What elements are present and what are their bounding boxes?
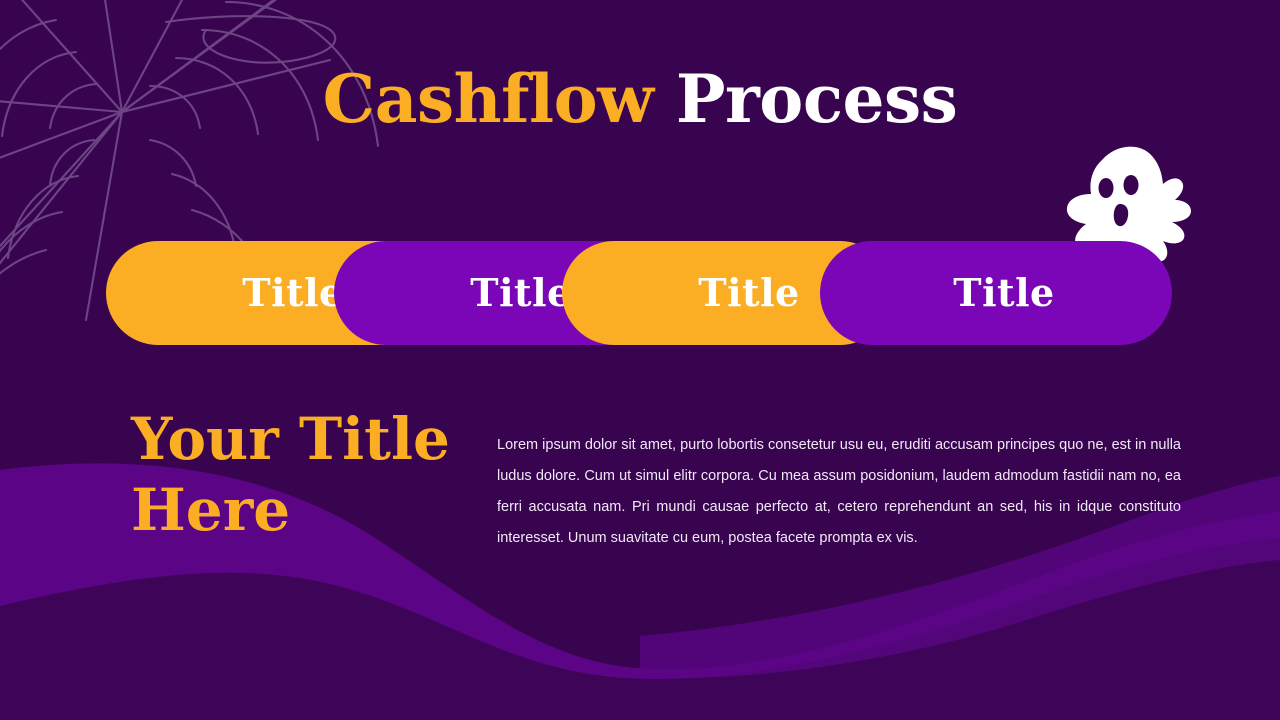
section-heading: Your Title Here <box>131 404 461 546</box>
slide-canvas: Cashflow Process Title Title Title Title… <box>0 0 1280 720</box>
process-step-3-label: Title <box>698 274 799 312</box>
process-step-1-label: Title <box>242 274 343 312</box>
process-step-4-label: Title <box>953 274 1054 312</box>
page-title: Cashflow Process <box>0 64 1280 135</box>
section-body-text: Lorem ipsum dolor sit amet, purto lobort… <box>497 430 1181 554</box>
process-step-4[interactable]: Title <box>820 241 1172 345</box>
process-step-2-label: Title <box>470 274 571 312</box>
process-steps: Title Title Title Title <box>106 241 1172 345</box>
page-title-accent: Cashflow <box>323 60 654 138</box>
page-title-rest <box>653 60 675 138</box>
page-title-secondary: Process <box>676 60 957 138</box>
